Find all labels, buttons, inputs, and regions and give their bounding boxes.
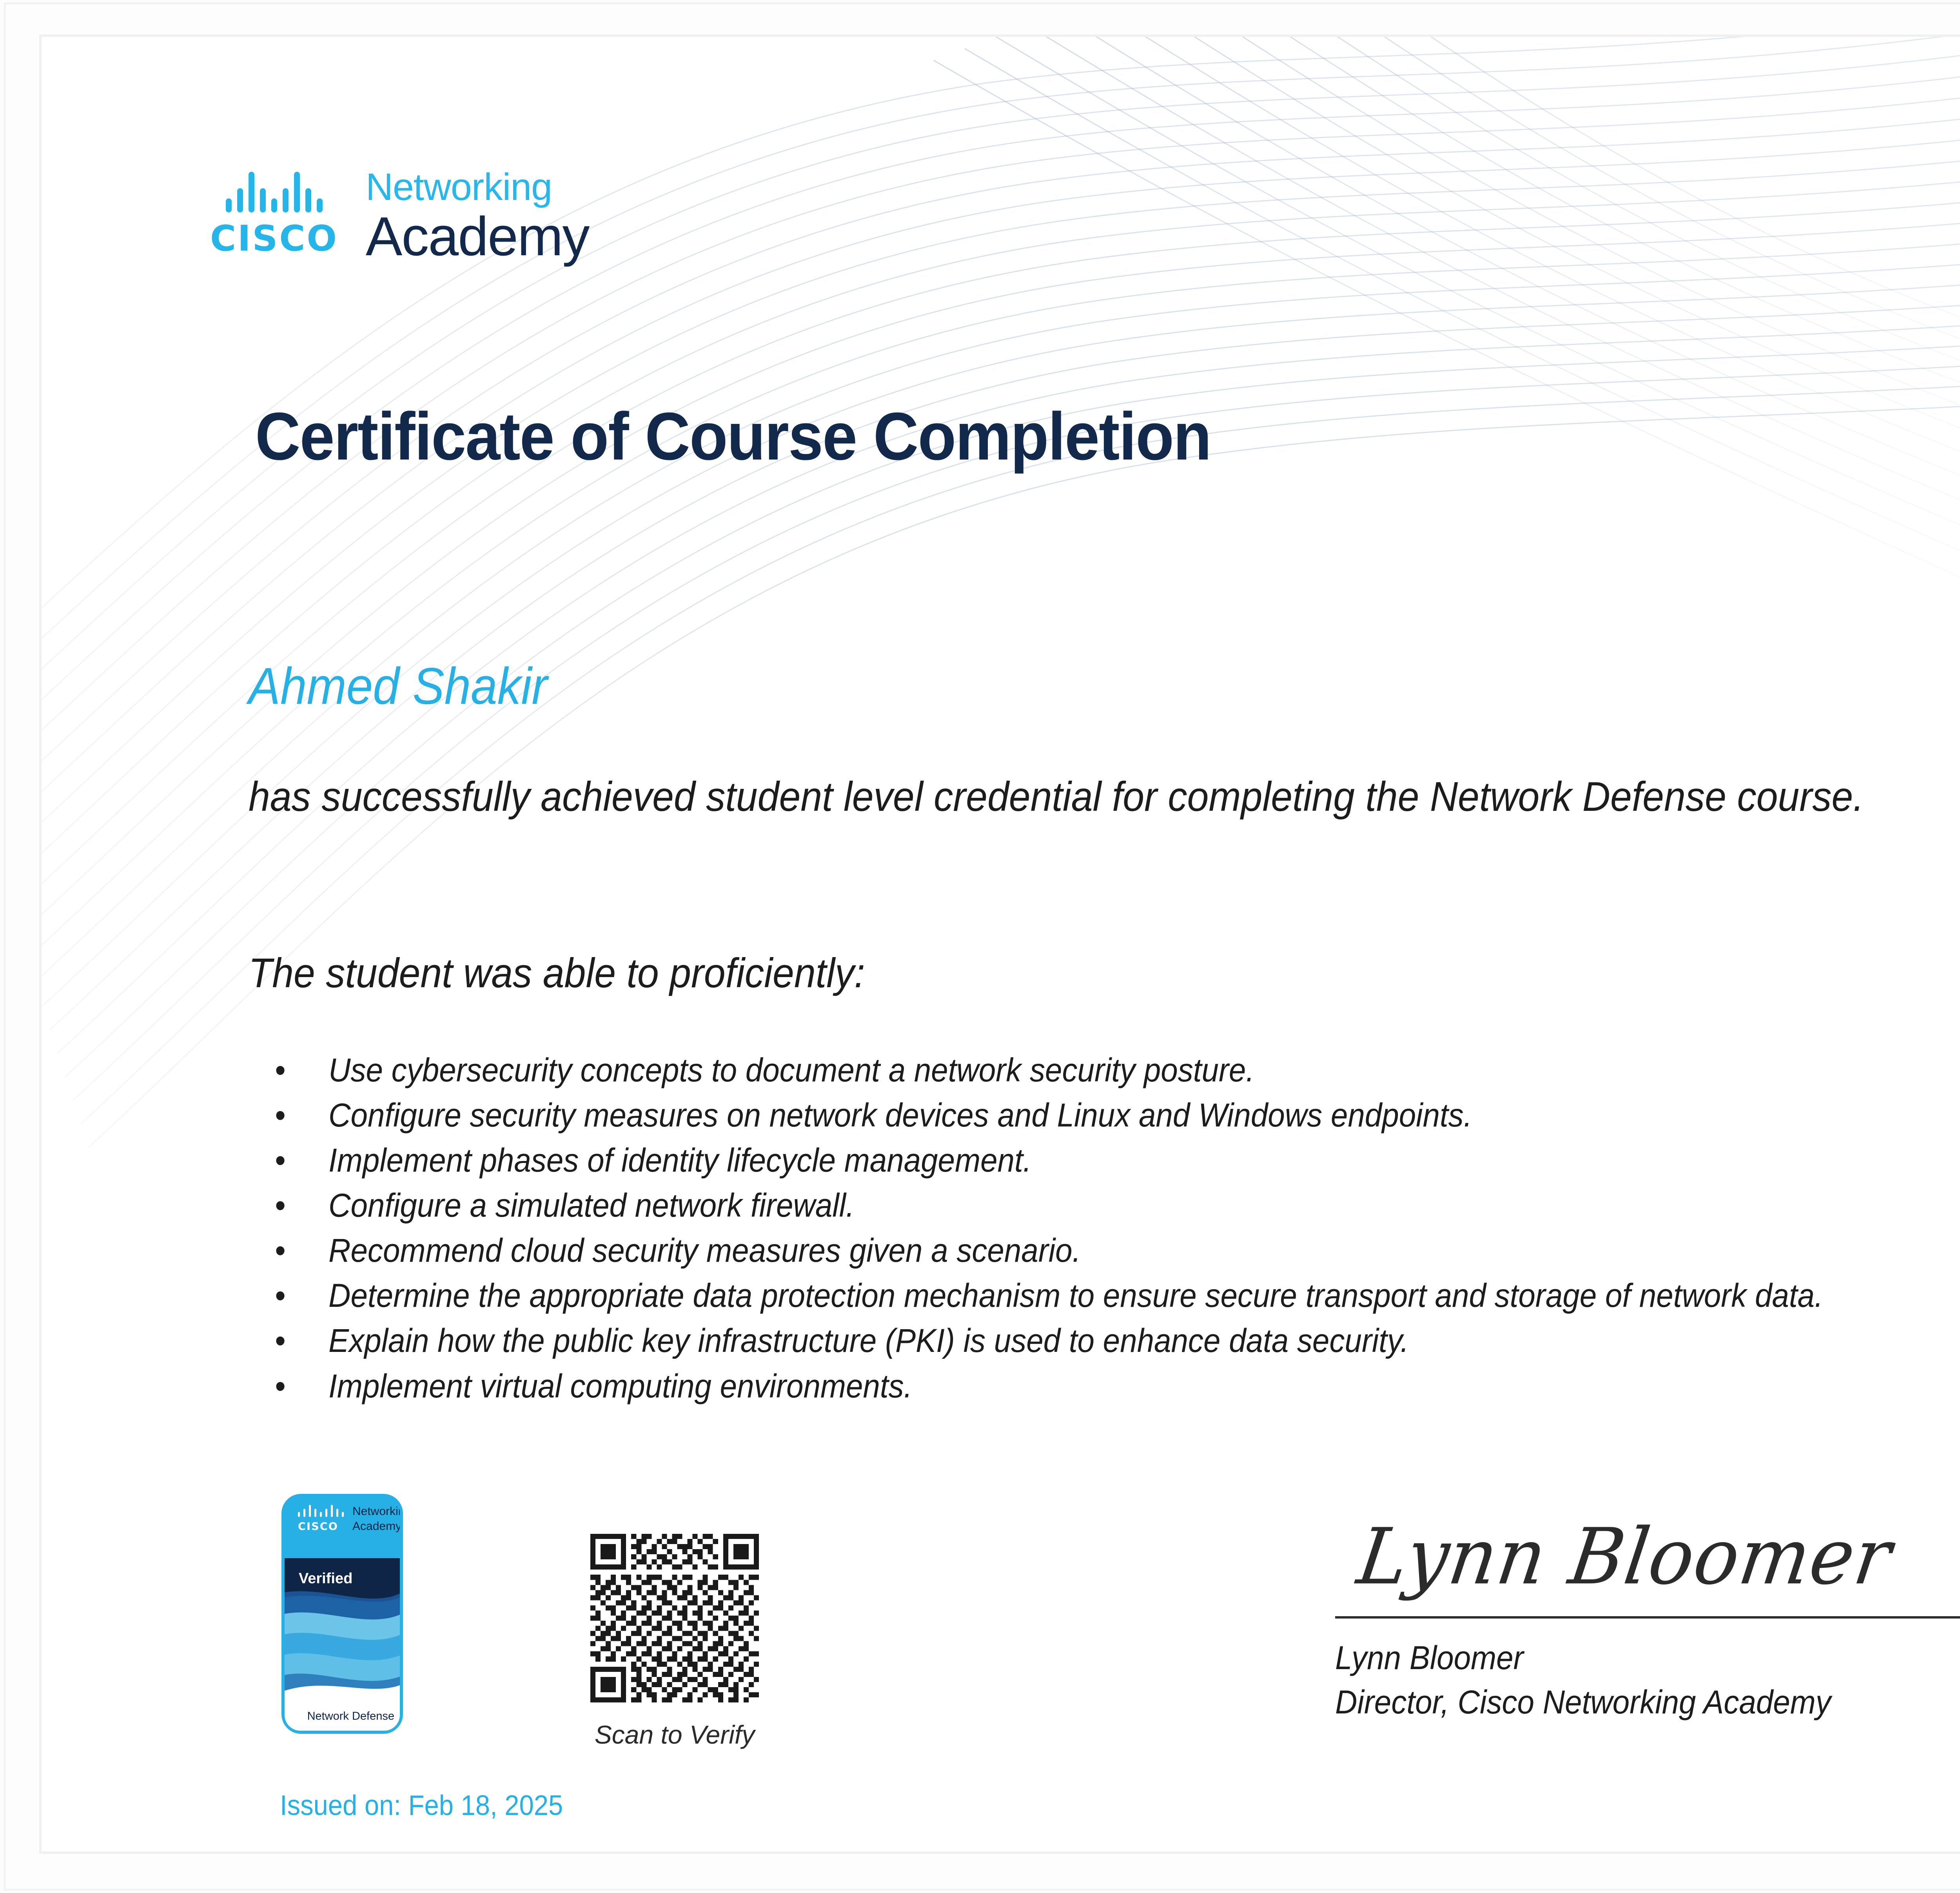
signatory-role: Director, Cisco Networking Academy [1335,1680,1960,1724]
badge-cisco-wordmark: CISCO [298,1521,338,1533]
academy-text: Academy [366,209,589,264]
list-item: •Implement phases of identity lifecycle … [261,1138,1823,1183]
signature-line [1335,1616,1960,1619]
list-item: •Determine the appropriate data protecti… [261,1273,1823,1318]
objective-text: Implement virtual computing environments… [328,1368,912,1404]
objective-text: Configure security measures on network d… [328,1097,1472,1134]
bullet-icon: • [275,1273,285,1318]
objective-text: Configure a simulated network firewall. [328,1187,855,1224]
objective-text: Explain how the public key infrastructur… [328,1322,1409,1359]
objective-text: Determine the appropriate data protectio… [328,1277,1823,1314]
cisco-networking-academy-logo: CISCO Networking Academy [210,166,589,264]
networking-text: Networking [366,168,589,206]
statement-prefix: has successfully achieved student level … [249,774,1430,820]
objectives-list: •Use cybersecurity concepts to document … [261,1048,1823,1409]
bullet-icon: • [275,1318,285,1363]
signature-image: Lynn Bloomer [1335,1519,1960,1613]
qr-caption: Scan to Verify [590,1720,759,1749]
cisco-wordmark: CISCO [210,221,338,256]
bullet-icon: • [275,1228,285,1273]
bullet-icon: • [275,1048,285,1093]
bullet-icon: • [275,1364,285,1409]
cisco-bars-icon [226,166,323,213]
list-item: •Recommend cloud security measures given… [261,1228,1823,1273]
issued-date: Issued on: Feb 18, 2025 [280,1789,563,1822]
list-item: •Configure a simulated network firewall. [261,1183,1823,1228]
cisco-bridge-icon: CISCO [210,166,338,256]
bullet-icon: • [275,1093,285,1138]
achievement-statement: has successfully achieved student level … [249,769,1960,825]
student-name: Ahmed Shakir [249,656,548,716]
certificate-page: CISCO Networking Academy Certificate of … [0,0,1960,1893]
signatory-name: Lynn Bloomer [1335,1636,1960,1680]
networking-academy-wordmark: Networking Academy [366,166,589,264]
course-name: Network Defense [1430,774,1726,820]
verified-badge: CISCO Networking Academy Verified Networ… [280,1492,405,1735]
statement-suffix: course. [1726,774,1864,820]
bullet-icon: • [275,1183,285,1228]
list-item: •Configure security measures on network … [261,1093,1823,1138]
objective-text: Use cybersecurity concepts to document a… [328,1052,1254,1088]
list-item: •Implement virtual computing environment… [261,1364,1823,1409]
objective-text: Implement phases of identity lifecycle m… [328,1142,1031,1179]
certificate-canvas: CISCO Networking Academy Certificate of … [39,35,1960,1854]
badge-course-text: Network Defense [307,1710,394,1722]
proficiency-heading: The student was able to proficiently: [249,950,865,997]
page-title: Certificate of Course Completion [255,398,1211,475]
verification-qr-block[interactable]: Scan to Verify [590,1534,759,1749]
objective-text: Recommend cloud security measures given … [328,1232,1081,1269]
qr-code-icon[interactable] [590,1534,759,1702]
signature-block: Lynn Bloomer Lynn Bloomer Director, Cisc… [1335,1523,1960,1725]
badge-academy-text: Academy [352,1520,401,1533]
bullet-icon: • [275,1138,285,1183]
list-item: •Explain how the public key infrastructu… [261,1318,1823,1363]
badge-status-text: Verified [299,1570,352,1587]
badge-networking-text: Networking [352,1505,405,1518]
list-item: •Use cybersecurity concepts to document … [261,1048,1823,1093]
